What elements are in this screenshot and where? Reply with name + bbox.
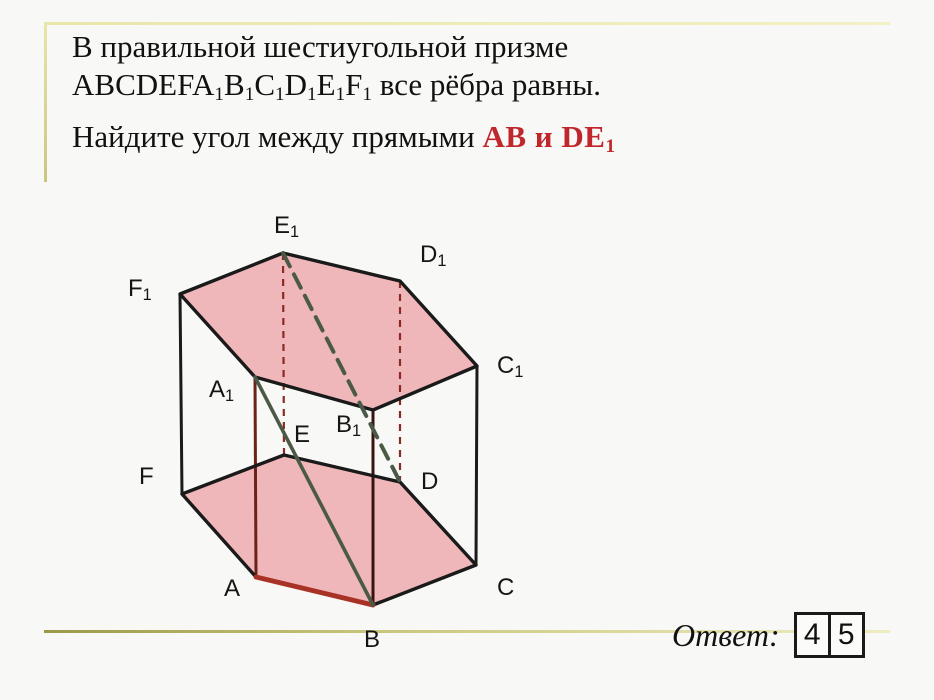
vertex-label-c: C	[497, 576, 514, 600]
vertex-label-a: A	[224, 577, 240, 601]
vertex-label-f1-base: F	[128, 275, 143, 302]
vertex-label-b1-sub: 1	[352, 422, 361, 440]
vertex-label-d-base: D	[421, 468, 438, 495]
answer-area: Ответ: 4 5	[672, 612, 865, 658]
prism-label-abcdefa: ABCDEFA	[72, 67, 214, 102]
vertex-label-f1-sub: 1	[143, 286, 152, 304]
vertex-label-e: E	[294, 423, 310, 447]
prism-sub-a1: 1	[214, 84, 224, 105]
edge-f1-f	[180, 294, 182, 494]
frame-top-border	[44, 22, 890, 25]
edge-c1-c	[476, 366, 477, 565]
frame-left-border	[44, 22, 47, 182]
prism-sub-f1: 1	[362, 84, 372, 105]
hexagonal-prism-figure: F1 E1 D1 C1 B1 A1 F E D C B A	[0, 190, 620, 640]
answer-label: Ответ:	[672, 617, 780, 654]
answer-digit-1[interactable]: 4	[797, 615, 828, 655]
highlighted-lines-label: AB и DE	[482, 119, 605, 154]
question-line-2-suffix: все рёбра равны.	[372, 67, 601, 102]
vertex-label-b1: B1	[336, 413, 361, 437]
vertex-label-c1-base: C	[497, 352, 514, 379]
vertex-label-a1: A1	[209, 378, 234, 402]
vertex-label-a-base: A	[224, 575, 240, 602]
vertex-label-d1-base: D	[420, 241, 437, 268]
vertex-label-e1-sub: 1	[290, 223, 299, 241]
vertex-label-b: B	[364, 628, 380, 652]
vertex-label-d: D	[421, 470, 438, 494]
answer-digit-2[interactable]: 5	[828, 615, 862, 655]
edge-a1-a	[255, 377, 256, 577]
vertex-label-f: F	[139, 465, 154, 489]
vertex-label-c1-sub: 1	[514, 363, 523, 381]
vertex-label-e-base: E	[294, 421, 310, 448]
question-line-3: Найдите угол между прямыми AB и DE1	[72, 118, 872, 161]
prism-label-c: C	[254, 67, 275, 102]
vertex-label-b1-base: B	[336, 411, 352, 438]
vertex-label-f1: F1	[128, 277, 152, 301]
vertex-label-c-base: C	[497, 574, 514, 601]
vertex-label-b-base: B	[364, 626, 380, 653]
prism-sub-b1: 1	[245, 84, 255, 105]
question-line-2: ABCDEFA1B1C1D1E1F1 все рёбра равны.	[72, 66, 872, 109]
prism-sub-e1: 1	[336, 84, 346, 105]
vertex-label-e1-base: E	[274, 212, 290, 239]
answer-boxes[interactable]: 4 5	[794, 612, 865, 658]
question-line-1: В правильной шестиугольной призме	[72, 28, 872, 66]
vertex-label-e1: E1	[274, 214, 299, 238]
vertex-label-d1-sub: 1	[437, 252, 446, 270]
slide-canvas: В правильной шестиугольной призме ABCDEF…	[0, 0, 934, 700]
question-block: В правильной шестиугольной призме ABCDEF…	[72, 28, 872, 161]
vertex-label-c1: C1	[497, 354, 523, 378]
prism-svg	[0, 190, 620, 640]
vertex-label-d1: D1	[420, 243, 446, 267]
prism-label-d: D	[285, 67, 307, 102]
vertex-label-a1-sub: 1	[225, 387, 234, 405]
vertex-label-f-base: F	[139, 463, 154, 490]
prism-sub-c1: 1	[275, 84, 285, 105]
prism-label-b: B	[224, 67, 245, 102]
highlighted-lines-sub: 1	[605, 136, 615, 157]
question-line-3-prefix: Найдите угол между прямыми	[72, 119, 482, 154]
prism-label-e: E	[317, 67, 336, 102]
prism-label-f: F	[345, 67, 362, 102]
vertex-label-a1-base: A	[209, 376, 225, 403]
prism-sub-d1: 1	[307, 84, 317, 105]
